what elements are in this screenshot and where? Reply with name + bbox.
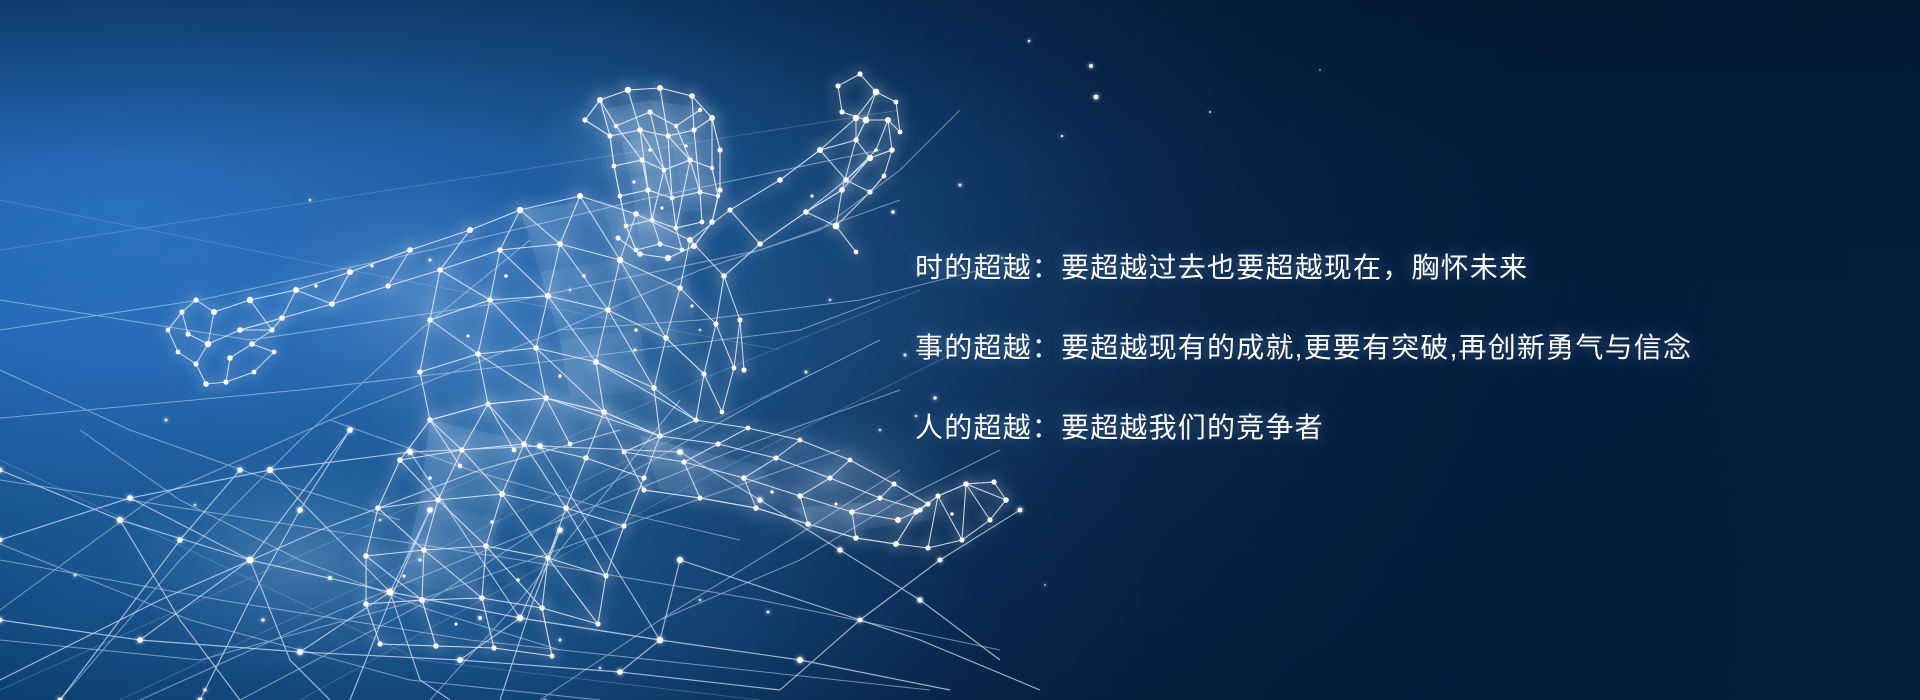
slogan-line-work: 事的超越：要超越现有的成就,更要有突破,再创新勇气与信念 — [915, 308, 1815, 388]
slogan-line-people: 人的超越：要超越我们的竞争者 — [915, 388, 1815, 468]
hero-banner: 时的超越：要超越过去也要超越现在，胸怀未来 事的超越：要超越现有的成就,更要有突… — [0, 0, 1920, 700]
slogan-text-block: 时的超越：要超越过去也要超越现在，胸怀未来 事的超越：要超越现有的成就,更要有突… — [915, 228, 1815, 468]
slogan-line-time: 时的超越：要超越过去也要超越现在，胸怀未来 — [915, 228, 1815, 308]
figure-halo — [110, 65, 960, 670]
